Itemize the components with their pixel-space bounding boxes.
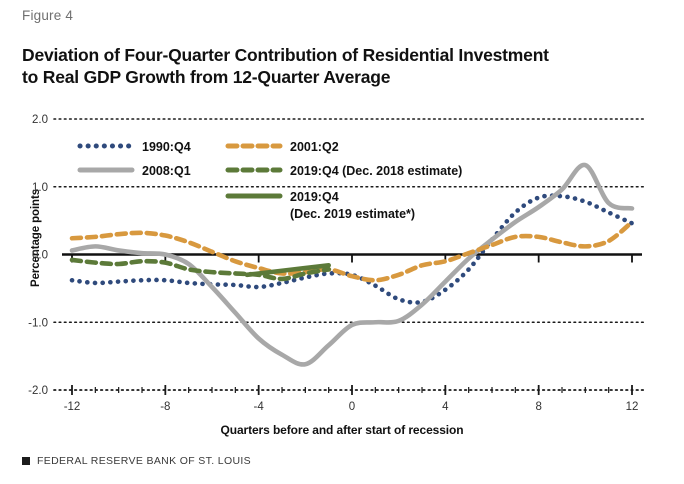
legend-label-5: 2019:Q4 [290,190,339,204]
data-series-2 [72,165,632,365]
legend-label-4: 2019:Q4 (Dec. 2018 estimate) [290,164,462,178]
x-tick-label: 4 [442,401,449,413]
y-axis-tick-labels: -2.0-1.00.01.02.0 [28,114,48,397]
data-series-layer [72,165,632,365]
y-tick-label: 2.0 [32,114,48,126]
footer-text: FEDERAL RESERVE BANK OF ST. LOUIS [37,455,251,467]
footer: FEDERAL RESERVE BANK OF ST. LOUIS [22,455,251,467]
data-series-3 [72,222,632,280]
legend-label-1: 1990:Q4 [142,140,191,154]
legend-label-5-line2: (Dec. 2019 estimate*) [290,207,415,221]
chart-plot-area: -2.0-1.00.01.02.0 -12-8-404812 1990:Q420… [0,0,684,484]
x-tick-label: -12 [64,401,81,413]
chart-legend: 1990:Q42008:Q12001:Q22019:Q4 (Dec. 2018 … [80,140,462,221]
x-tick-label: 8 [535,401,541,413]
y-tick-label: -1.0 [28,317,48,329]
y-tick-label: 1.0 [32,182,48,194]
x-tick-label: -4 [254,401,265,413]
x-axis-tick-labels: -12-8-404812 [64,401,639,413]
legend-label-2: 2008:Q1 [142,164,191,178]
footer-bullet-icon [22,457,30,465]
chart-svg: -2.0-1.00.01.02.0 -12-8-404812 1990:Q420… [0,0,684,484]
y-tick-label: 0.0 [32,250,48,262]
x-tick-label: 0 [349,401,355,413]
x-tick-label: 12 [626,401,639,413]
x-tick-label: -8 [160,401,170,413]
y-tick-label: -2.0 [28,385,48,397]
legend-label-3: 2001:Q2 [290,140,339,154]
